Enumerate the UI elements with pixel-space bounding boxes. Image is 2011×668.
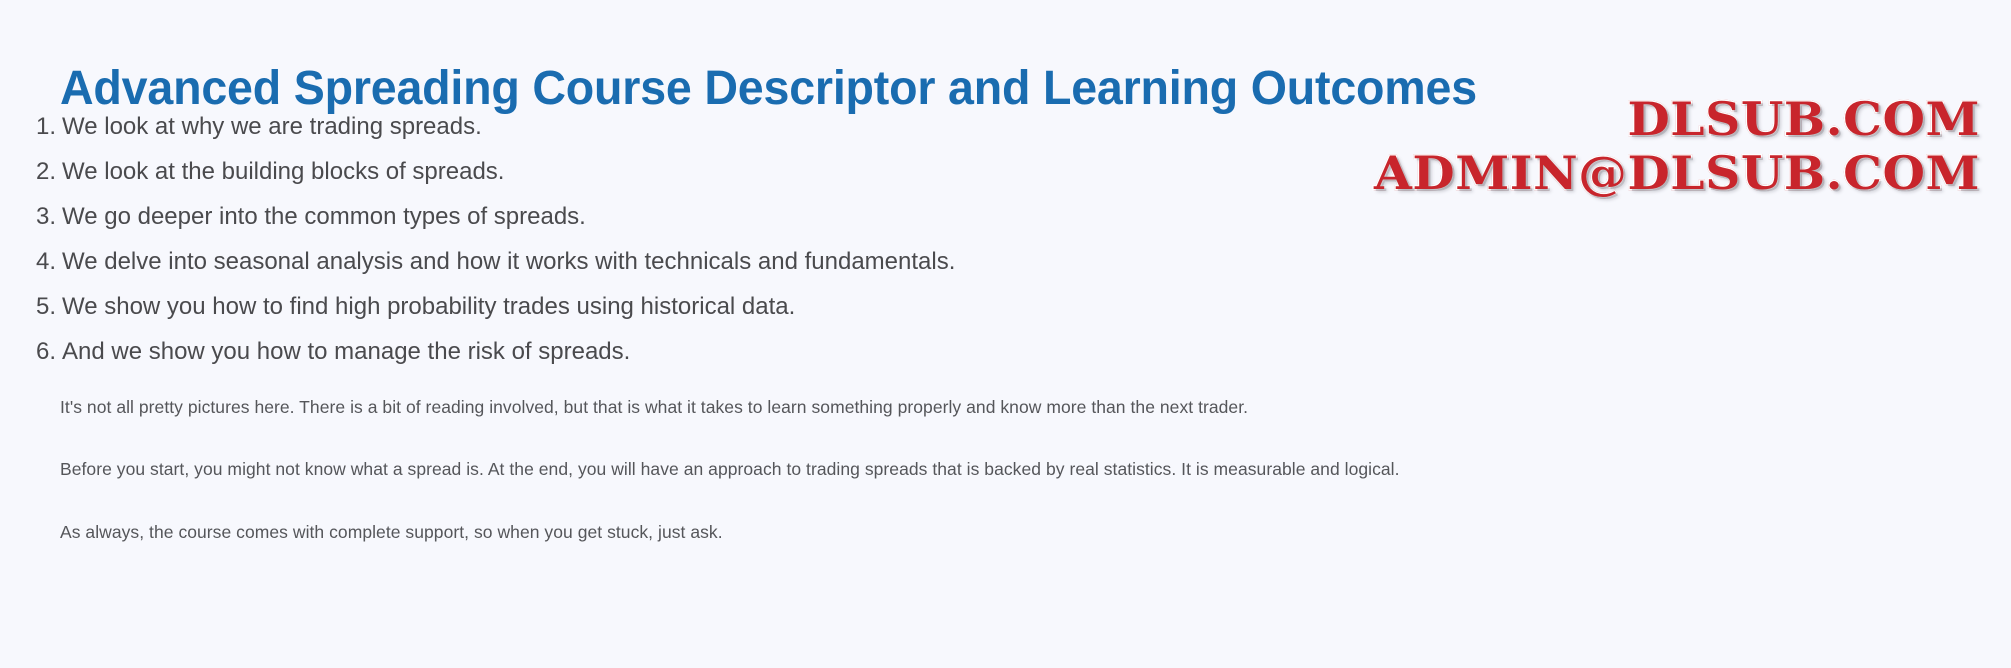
watermark-email-text: ADMIN@DLSUB.COM — [1374, 146, 1980, 200]
list-item-label: We go deeper into the common types of sp… — [62, 194, 586, 239]
list-item: 5. We show you how to find high probabil… — [36, 284, 1286, 329]
list-item-number: 3. — [36, 194, 62, 239]
list-item-label: We look at the building blocks of spread… — [62, 149, 504, 194]
list-item-number: 1. — [36, 104, 62, 149]
list-item-label: And we show you how to manage the risk o… — [62, 329, 630, 374]
note-paragraph: It's not all pretty pictures here. There… — [60, 396, 1990, 441]
list-item-number: 2. — [36, 149, 62, 194]
list-item-label: We delve into seasonal analysis and how … — [62, 239, 955, 284]
notes-block: It's not all pretty pictures here. There… — [60, 378, 1990, 583]
watermark-site-text: DLSUB.COM — [1627, 92, 1980, 146]
list-item: 1. We look at why we are trading spreads… — [36, 104, 1286, 149]
list-item-number: 6. — [36, 329, 62, 374]
slide-page: Advanced Spreading Course Descriptor and… — [0, 0, 2011, 668]
list-item-label: We look at why we are trading spreads. — [62, 104, 482, 149]
list-item: 2. We look at the building blocks of spr… — [36, 149, 1286, 194]
list-item: 3. We go deeper into the common types of… — [36, 194, 1286, 239]
list-item: 6. And we show you how to manage the ris… — [36, 329, 1286, 374]
learning-outcomes-list: 1. We look at why we are trading spreads… — [36, 104, 1286, 374]
list-item-number: 4. — [36, 239, 62, 284]
list-item: 4. We delve into seasonal analysis and h… — [36, 239, 1286, 284]
list-item-label: We show you how to find high probability… — [62, 284, 795, 329]
note-paragraph: Before you start, you might not know wha… — [60, 458, 1990, 503]
list-item-number: 5. — [36, 284, 62, 329]
note-paragraph: As always, the course comes with complet… — [60, 521, 1990, 566]
